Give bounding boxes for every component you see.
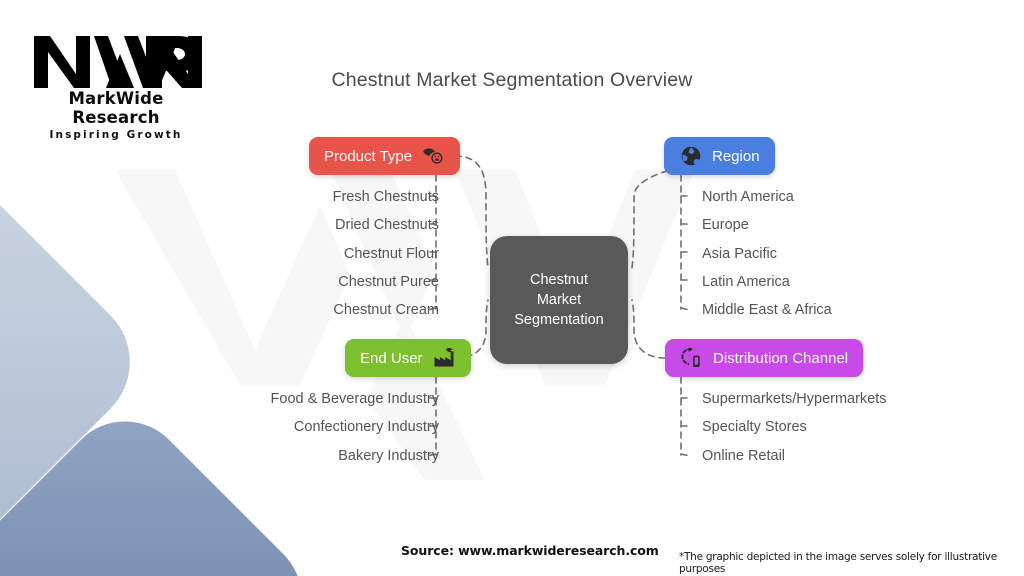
chestnut-icon [421, 144, 445, 168]
connector-product-center [455, 156, 488, 268]
branch-pill-region[interactable]: Region [664, 137, 775, 175]
logo-name: MarkWide Research [28, 89, 204, 127]
list-item[interactable]: Asia Pacific [702, 240, 832, 268]
list-item[interactable]: Specialty Stores [702, 413, 887, 441]
list-item[interactable]: Food & Beverage Industry [271, 385, 439, 413]
list-item[interactable]: Europe [702, 211, 832, 239]
list-item[interactable]: Latin America [702, 268, 832, 296]
globe-icon [679, 144, 703, 168]
branch-pill-product-type[interactable]: Product Type [309, 137, 460, 175]
list-item[interactable]: Fresh Chestnuts [333, 183, 439, 211]
list-item[interactable]: Bakery Industry [271, 442, 439, 470]
infographic-canvas: MarkWide Research Inspiring Growth Chest… [0, 0, 1024, 576]
list-item[interactable]: Dried Chestnuts [333, 211, 439, 239]
branch-pill-distribution-channel[interactable]: Distribution Channel [665, 339, 863, 377]
source-credit[interactable]: Source: www.markwideresearch.com [401, 543, 659, 558]
list-item[interactable]: Chestnut Puree [333, 268, 439, 296]
sub-item-list-distribution-channel: Supermarkets/Hypermarkets Specialty Stor… [702, 385, 887, 470]
branch-label-product-type: Product Type [324, 148, 412, 165]
ticks-dist [681, 398, 692, 456]
list-item[interactable]: Middle East & Africa [702, 296, 832, 324]
branch-pill-end-user[interactable]: End User [345, 339, 471, 377]
decorative-shape-light [0, 150, 157, 574]
logo-tagline: Inspiring Growth [28, 129, 204, 141]
central-node[interactable]: Chestnut Market Segmentation [490, 236, 628, 364]
list-item[interactable]: Confectionery Industry [271, 413, 439, 441]
delivery-icon [680, 346, 704, 370]
disclaimer-note: *The graphic depicted in the image serve… [679, 551, 1024, 575]
central-node-label: Chestnut Market Segmentation [514, 270, 603, 330]
page-title: Chestnut Market Segmentation Overview [0, 69, 1024, 92]
ticks-region [681, 196, 692, 310]
list-item[interactable]: Chestnut Flour [333, 240, 439, 268]
sub-item-list-region: North America Europe Asia Pacific Latin … [702, 183, 832, 324]
list-item[interactable]: North America [702, 183, 832, 211]
list-item[interactable]: Chestnut Cream [333, 296, 439, 324]
connector-dist-center [632, 300, 665, 358]
branch-label-distribution-channel: Distribution Channel [713, 350, 848, 367]
branch-label-end-user: End User [360, 350, 423, 367]
branch-label-region: Region [712, 148, 760, 165]
list-item[interactable]: Online Retail [702, 442, 887, 470]
factory-icon [432, 346, 456, 370]
sub-item-list-end-user: Food & Beverage Industry Confectionery I… [271, 385, 439, 470]
list-item[interactable]: Supermarkets/Hypermarkets [702, 385, 887, 413]
sub-item-list-product-type: Fresh Chestnuts Dried Chestnuts Chestnut… [333, 183, 439, 324]
